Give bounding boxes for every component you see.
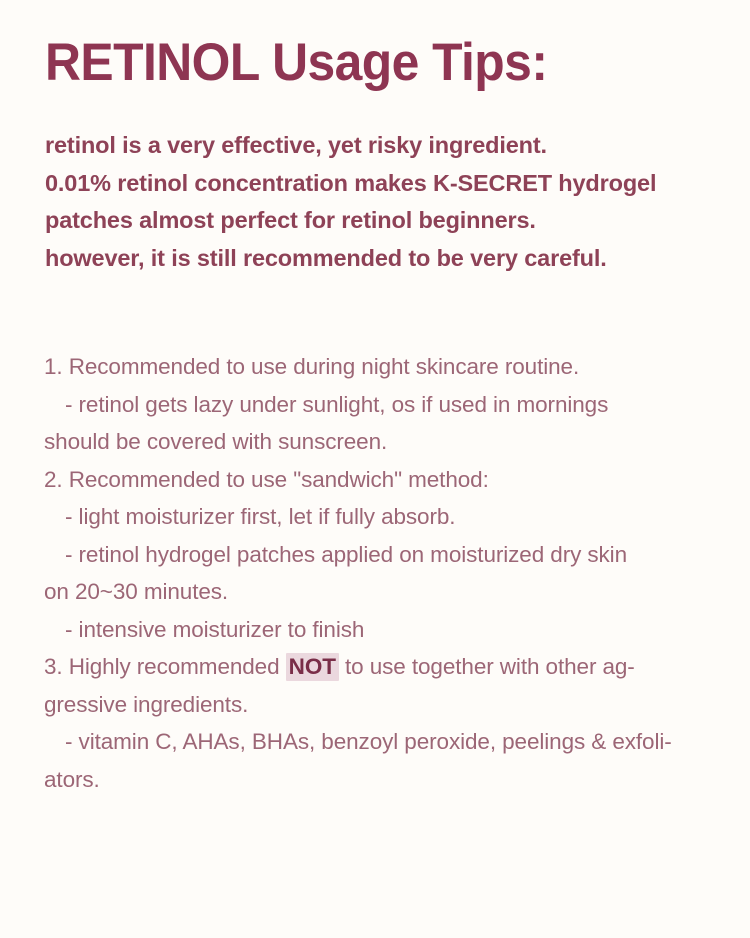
tip-line: gressive ingredients. [44,686,740,724]
intro-line: retinol is a very effective, yet risky i… [45,127,735,165]
title-block: RETINOL Usage Tips: [45,34,705,92]
tip-text-before: 3. Highly recommended [44,654,286,679]
intro-paragraph: retinol is a very effective, yet risky i… [45,127,735,277]
tip-line: - light moisturizer first, let if fully … [44,498,740,536]
tip-line: - vitamin C, AHAs, BHAs, benzoyl peroxid… [44,723,740,761]
poster-page: RETINOL Usage Tips: retinol is a very ef… [0,0,750,938]
intro-line: however, it is still recommended to be v… [45,240,735,278]
intro-line: 0.01% retinol concentration makes K-SECR… [45,165,735,203]
tip-line: on 20~30 minutes. [44,573,740,611]
tip-line: - retinol hydrogel patches applied on mo… [44,536,740,574]
tips-list: 1. Recommended to use during night skinc… [44,348,740,798]
tip-line: 3. Highly recommended NOT to use togethe… [44,648,740,686]
intro-line: patches almost perfect for retinol begin… [45,202,735,240]
tip-line: ators. [44,761,740,799]
page-title: RETINOL Usage Tips: [45,34,665,92]
tip-line: - intensive moisturizer to finish [44,611,740,649]
tip-line: - retinol gets lazy under sunlight, os i… [44,386,740,424]
tip-line: should be covered with sunscreen. [44,423,740,461]
highlighted-keyword: NOT [286,653,339,681]
tip-line: 1. Recommended to use during night skinc… [44,348,740,386]
tip-text-after: to use together with other ag- [339,654,635,679]
tip-line: 2. Recommended to use "sandwich" method: [44,461,740,499]
